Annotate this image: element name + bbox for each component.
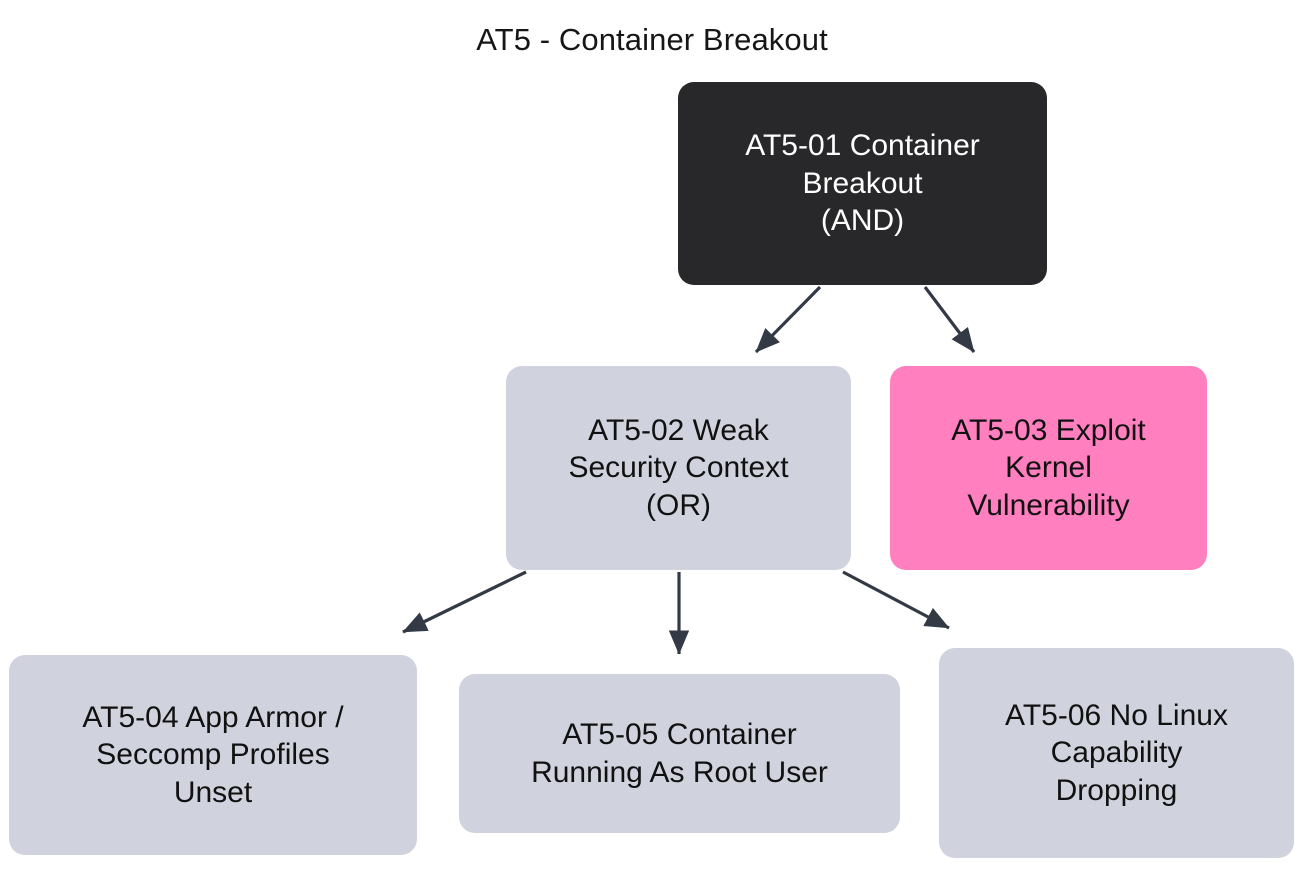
node-label: AT5-02 Weak Security Context (OR) [516,412,841,525]
node-at5-03-exploit-kernel-vulnerability[interactable]: AT5-03 Exploit Kernel Vulnerability [890,366,1207,570]
node-at5-04-app-armor-seccomp-profiles-unset[interactable]: AT5-04 App Armor / Seccomp Profiles Unse… [9,655,417,855]
diagram-title: AT5 - Container Breakout [0,22,1304,58]
node-label: AT5-01 Container Breakout (AND) [688,127,1037,240]
edge-at5-01-to-at5-02 [756,287,820,352]
node-label: AT5-05 Container Running As Root User [469,716,890,791]
edge-at5-02-to-at5-06 [843,572,949,628]
node-label: AT5-06 No Linux Capability Dropping [949,697,1284,810]
node-at5-06-no-linux-capability-dropping[interactable]: AT5-06 No Linux Capability Dropping [939,648,1294,858]
node-at5-01-container-breakout[interactable]: AT5-01 Container Breakout (AND) [678,82,1047,285]
node-label: AT5-03 Exploit Kernel Vulnerability [900,412,1197,525]
node-at5-05-container-running-as-root-user[interactable]: AT5-05 Container Running As Root User [459,674,900,833]
edge-at5-01-to-at5-03 [925,287,974,352]
attack-tree-diagram: AT5 - Container Breakout AT5-01 Containe… [0,0,1304,870]
edge-at5-02-to-at5-04 [403,572,526,632]
node-label: AT5-04 App Armor / Seccomp Profiles Unse… [19,699,407,812]
node-at5-02-weak-security-context[interactable]: AT5-02 Weak Security Context (OR) [506,366,851,570]
